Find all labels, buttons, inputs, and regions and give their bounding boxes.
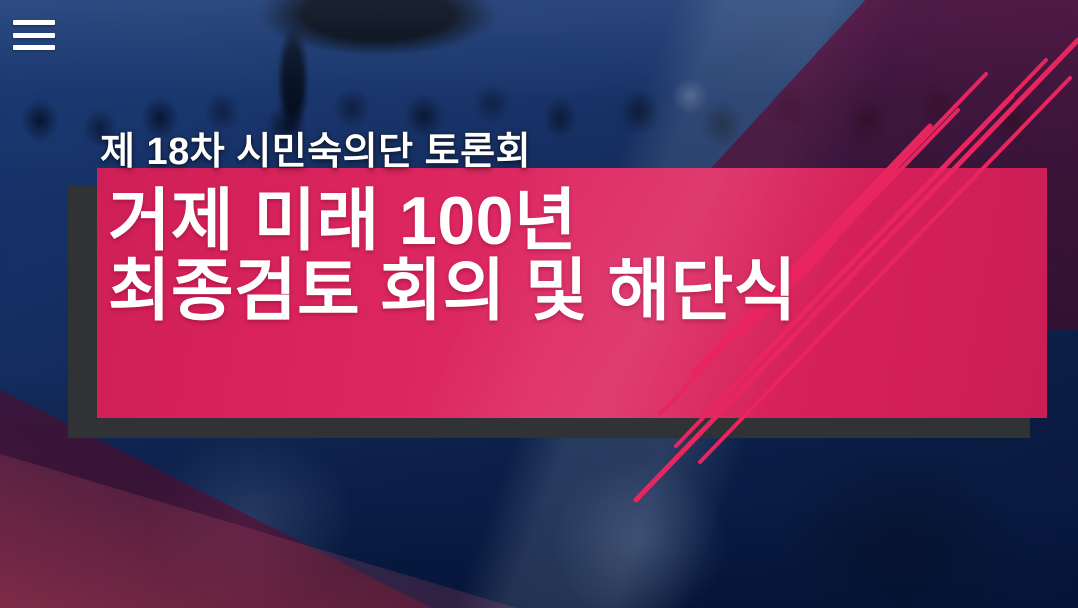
main-title: 거제 미래 100년 최종검토 회의 및 해단식 (108, 186, 797, 326)
hamburger-bar-top (13, 20, 55, 25)
hamburger-bar-bottom (13, 45, 55, 50)
hamburger-menu-icon[interactable] (13, 20, 55, 50)
main-title-line-2: 최종검토 회의 및 해단식 (108, 256, 797, 326)
event-subtitle: 제 18차 시민숙의단 토론회 (100, 120, 531, 175)
main-title-line-1: 거제 미래 100년 (108, 186, 797, 256)
hamburger-bar-middle (13, 33, 55, 38)
video-poster-frame: 제 18차 시민숙의단 토론회 거제 미래 100년 최종검토 회의 및 해단식 (0, 0, 1078, 608)
